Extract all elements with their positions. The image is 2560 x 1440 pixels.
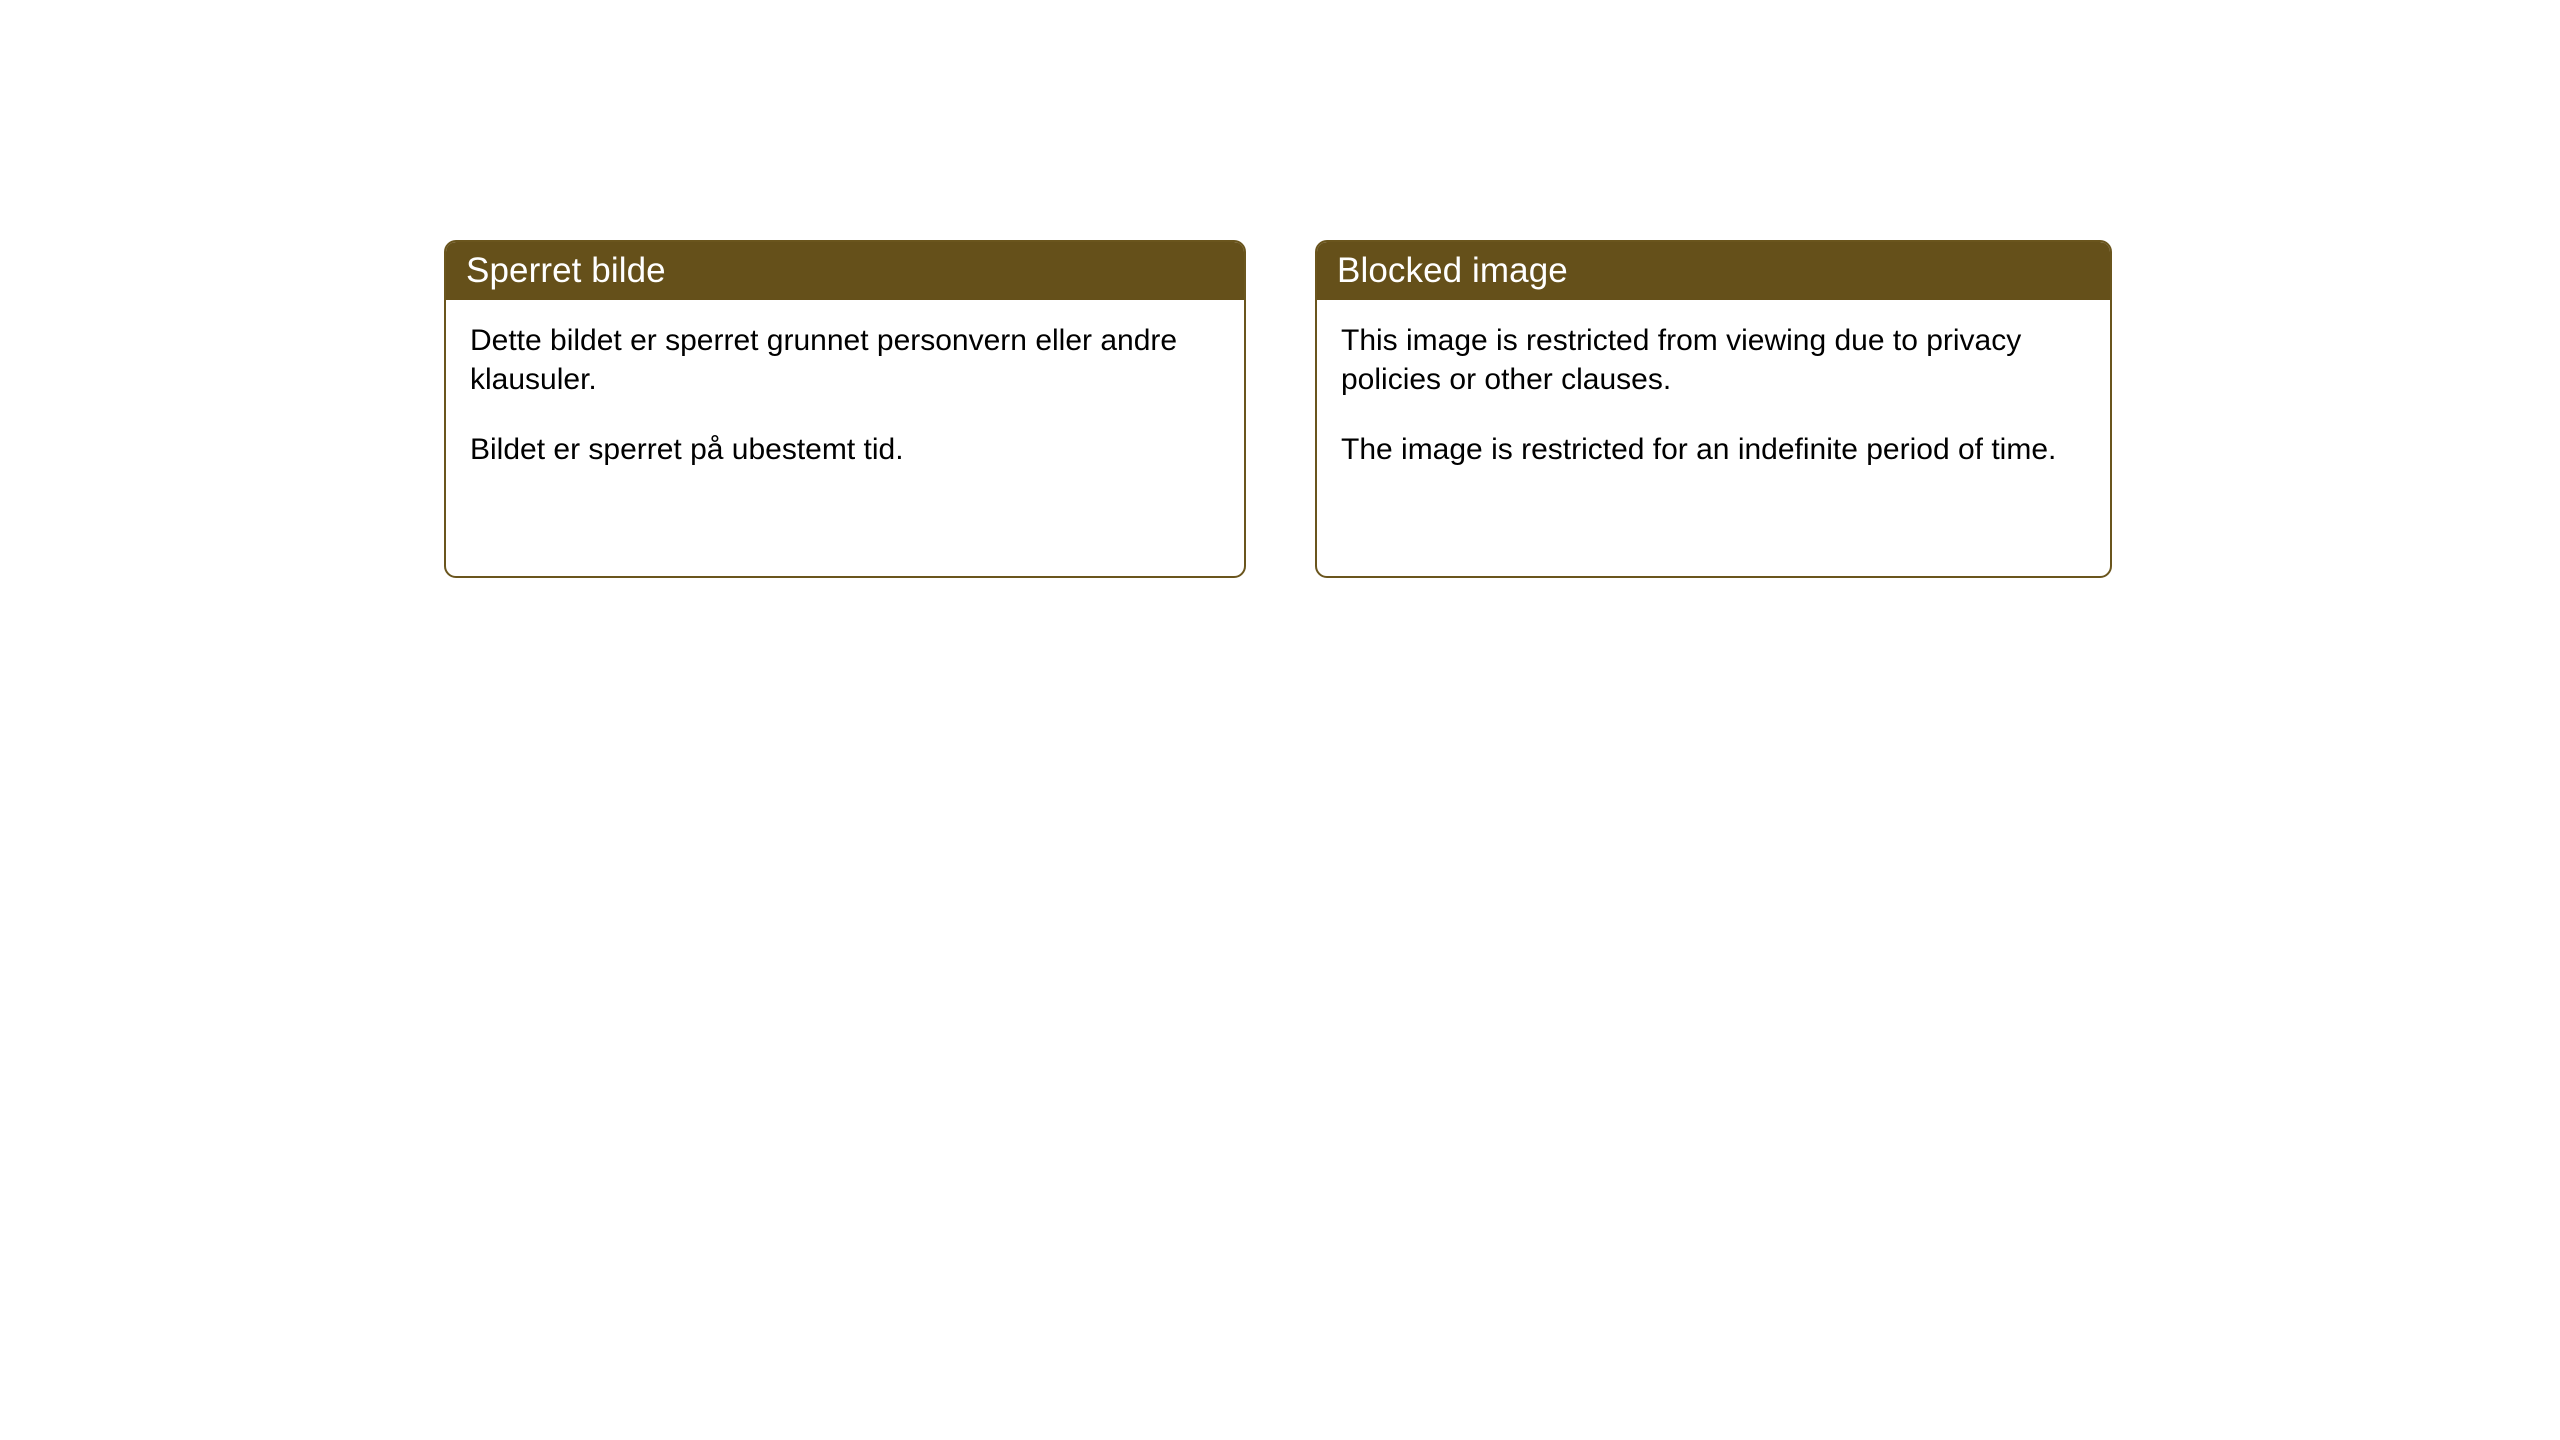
card-header-english: Blocked image — [1315, 240, 2112, 300]
blocked-image-notice-area: Sperret bilde Dette bildet er sperret gr… — [444, 240, 2112, 578]
card-header-norwegian: Sperret bilde — [444, 240, 1246, 300]
card-title-norwegian: Sperret bilde — [466, 253, 666, 288]
card-title-english: Blocked image — [1337, 253, 1568, 288]
blocked-image-card-english: Blocked image This image is restricted f… — [1315, 240, 2112, 578]
card-paragraph-duration-english: The image is restricted for an indefinit… — [1341, 431, 2090, 470]
card-body-english: This image is restricted from viewing du… — [1317, 300, 2110, 576]
card-paragraph-reason-norwegian: Dette bildet er sperret grunnet personve… — [470, 322, 1224, 399]
blocked-image-card-norwegian: Sperret bilde Dette bildet er sperret gr… — [444, 240, 1246, 578]
card-paragraph-duration-norwegian: Bildet er sperret på ubestemt tid. — [470, 431, 1224, 470]
card-body-norwegian: Dette bildet er sperret grunnet personve… — [446, 300, 1244, 576]
card-paragraph-reason-english: This image is restricted from viewing du… — [1341, 322, 2090, 399]
